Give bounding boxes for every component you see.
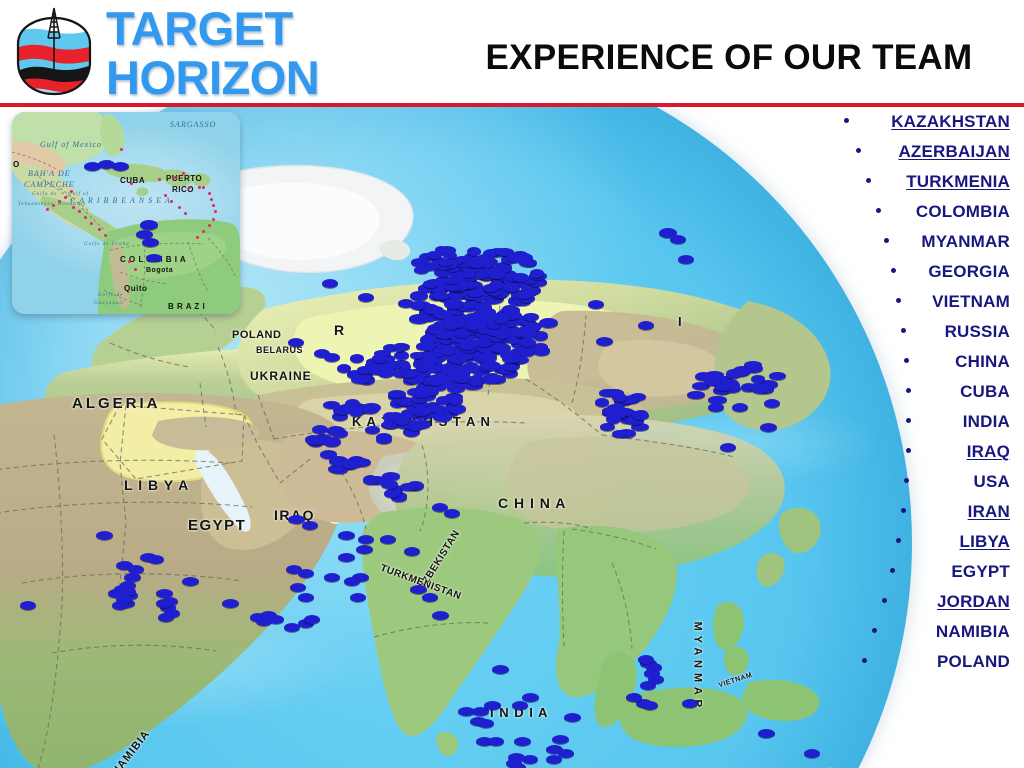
list-bullet-icon (906, 388, 911, 393)
well-location-marker-icon (539, 318, 558, 328)
well-location-marker-icon (410, 301, 426, 310)
well-location-marker-icon (447, 385, 465, 393)
well-location-marker-icon (510, 763, 526, 768)
inset-site-dot-icon (174, 176, 177, 179)
list-bullet-icon (876, 208, 881, 213)
list-bullet-icon (904, 358, 909, 363)
well-location-marker-icon (638, 655, 654, 664)
well-location-marker-icon (502, 355, 520, 363)
well-location-marker-icon (732, 403, 748, 412)
list-bullet-icon (884, 238, 889, 243)
inset-site-dot-icon (158, 178, 161, 181)
well-location-marker-icon (112, 162, 129, 171)
slide-header: TARGET HORIZON EXPERIENCE OF OUR TEAM (0, 0, 1024, 103)
well-location-marker-icon (495, 330, 510, 339)
list-bullet-icon (862, 658, 867, 663)
country-list-item[interactable]: VIETNAM (834, 287, 1024, 317)
country-list-item[interactable]: KAZAKHSTAN (834, 107, 1024, 137)
inset-site-dot-icon (84, 216, 87, 219)
well-location-marker-icon (96, 531, 113, 540)
inset-site-dot-icon (202, 186, 205, 189)
well-location-marker-icon (378, 369, 394, 378)
well-location-marker-icon (332, 429, 348, 438)
well-location-marker-icon (522, 693, 539, 702)
caribbean-inset-map: SARGASSOGulf of MexicoBAH'A DECAMPECHEGo… (12, 112, 240, 314)
inset-site-dot-icon (202, 230, 205, 233)
slide-root: TARGET HORIZON EXPERIENCE OF OUR TEAM (0, 0, 1024, 768)
country-name-label[interactable]: COLOMBIA (916, 197, 1010, 227)
well-location-marker-icon (182, 577, 199, 586)
well-location-marker-icon (670, 235, 686, 244)
inset-site-dot-icon (52, 204, 55, 207)
inset-site-dot-icon (98, 228, 101, 231)
country-name-label[interactable]: NAMIBIA (936, 617, 1010, 647)
country-list-item[interactable]: LIBYA (834, 527, 1024, 557)
well-location-marker-icon (322, 279, 338, 288)
well-location-marker-icon (493, 314, 509, 323)
well-location-marker-icon (112, 601, 128, 610)
country-list-item[interactable]: MYANMAR (834, 227, 1024, 257)
list-bullet-icon (901, 508, 906, 513)
country-name-label[interactable]: EGYPT (951, 557, 1010, 587)
well-location-marker-icon (522, 755, 538, 764)
well-location-marker-icon (298, 569, 314, 578)
well-location-marker-icon (432, 611, 449, 620)
well-location-marker-icon (140, 220, 158, 230)
country-name-label[interactable]: CUBA (960, 377, 1010, 407)
well-location-marker-icon (408, 422, 424, 431)
country-list-item[interactable]: TURKMENIA (834, 167, 1024, 197)
well-location-marker-icon (552, 735, 569, 744)
list-bullet-icon (856, 148, 861, 153)
country-experience-list: KAZAKHSTANAZERBAIJANTURKMENIACOLOMBIAMYA… (834, 107, 1024, 727)
well-location-marker-icon (478, 719, 494, 728)
country-list-item[interactable]: AZERBAIJAN (834, 137, 1024, 167)
country-name-label[interactable]: CHINA (955, 347, 1010, 377)
well-location-marker-icon (416, 342, 435, 350)
country-list-item[interactable]: POLAND (834, 647, 1024, 677)
well-location-marker-icon (596, 337, 613, 346)
well-location-marker-icon (365, 426, 380, 434)
country-name-label[interactable]: GEORGIA (928, 257, 1010, 287)
country-name-label[interactable]: LIBYA (960, 527, 1010, 557)
list-bullet-icon (896, 298, 901, 303)
country-name-label[interactable]: MYANMAR (921, 227, 1010, 257)
well-location-marker-icon (380, 535, 396, 544)
well-location-marker-icon (284, 623, 300, 632)
well-location-marker-icon (708, 403, 724, 412)
country-list-item[interactable]: GEORGIA (834, 257, 1024, 287)
inset-site-dot-icon (58, 200, 61, 203)
inset-site-dot-icon (104, 234, 107, 237)
list-bullet-icon (904, 478, 909, 483)
well-location-marker-icon (533, 346, 550, 355)
country-list-item[interactable]: RUSSIA (834, 317, 1024, 347)
list-bullet-icon (866, 178, 871, 183)
country-name-label[interactable]: INDIA (963, 407, 1010, 437)
well-location-marker-icon (222, 599, 239, 608)
well-location-marker-icon (678, 255, 694, 264)
well-location-marker-icon (626, 693, 642, 702)
inset-site-dot-icon (178, 206, 181, 209)
well-location-marker-icon (720, 443, 736, 452)
well-location-marker-icon (404, 547, 420, 556)
well-location-marker-icon (344, 577, 360, 586)
inset-site-dot-icon (90, 222, 93, 225)
well-location-marker-icon (519, 259, 537, 267)
well-location-marker-icon (381, 480, 398, 489)
well-location-marker-icon (588, 300, 604, 309)
well-location-marker-icon (428, 376, 443, 386)
country-list-item[interactable]: IRAQ (834, 437, 1024, 467)
well-location-marker-icon (600, 423, 615, 431)
well-location-marker-icon (288, 338, 304, 347)
well-location-marker-icon (409, 314, 429, 324)
inset-site-dot-icon (196, 236, 199, 239)
well-location-marker-icon (488, 737, 504, 746)
well-location-marker-icon (358, 293, 374, 302)
country-list-item[interactable]: CHINA (834, 347, 1024, 377)
inset-site-dot-icon (130, 182, 133, 185)
list-bullet-icon (891, 268, 896, 273)
well-location-marker-icon (351, 375, 369, 383)
well-location-marker-icon (595, 398, 609, 406)
well-location-marker-icon (350, 593, 366, 602)
well-location-marker-icon (760, 423, 777, 432)
anticline-derrick-logo-icon (6, 6, 102, 98)
well-location-marker-icon (412, 407, 431, 416)
well-location-marker-icon (146, 254, 162, 262)
well-location-marker-icon (514, 737, 531, 746)
well-location-marker-icon (376, 436, 392, 444)
country-name-label[interactable]: IRAQ (967, 437, 1010, 467)
well-location-marker-icon (158, 613, 174, 622)
country-list-item[interactable]: COLOMBIA (834, 197, 1024, 227)
inset-site-dot-icon (198, 186, 201, 189)
well-location-marker-icon (312, 425, 328, 434)
list-bullet-icon (844, 118, 849, 123)
inset-site-dot-icon (170, 200, 173, 203)
well-location-marker-icon (564, 713, 581, 722)
well-location-marker-icon (302, 521, 318, 530)
inset-site-dot-icon (64, 196, 67, 199)
well-location-marker-icon (433, 412, 452, 421)
well-location-marker-icon (638, 321, 654, 330)
well-location-marker-icon (519, 338, 536, 347)
list-bullet-icon (906, 448, 911, 453)
list-bullet-icon (896, 538, 901, 543)
well-location-marker-icon (304, 615, 320, 624)
well-location-marker-icon (350, 354, 364, 363)
country-list-item[interactable]: EGYPT (834, 557, 1024, 587)
page-title: EXPERIENCE OF OUR TEAM (440, 38, 1018, 78)
country-name-label[interactable]: VIETNAM (932, 287, 1010, 317)
well-location-marker-icon (804, 749, 820, 758)
well-location-marker-icon (502, 283, 520, 292)
well-location-marker-icon (323, 437, 342, 447)
well-location-marker-icon (393, 415, 410, 425)
list-bullet-icon (882, 598, 887, 603)
inset-site-dot-icon (212, 218, 215, 221)
well-location-marker-icon (444, 509, 460, 518)
well-location-marker-icon (142, 238, 159, 247)
country-list-item[interactable]: CUBA (834, 377, 1024, 407)
inset-site-dot-icon (128, 260, 131, 263)
well-location-marker-icon (642, 701, 658, 710)
well-location-marker-icon (384, 489, 400, 498)
country-name-label[interactable]: IRAN (968, 497, 1010, 527)
well-location-marker-icon (324, 573, 340, 582)
inset-site-dot-icon (212, 204, 215, 207)
country-list-item[interactable]: IRAN (834, 497, 1024, 527)
well-location-marker-icon (481, 375, 499, 384)
header-divider-rule (0, 103, 1024, 107)
well-location-marker-icon (393, 343, 406, 352)
well-location-marker-icon (423, 280, 438, 288)
well-location-marker-icon (640, 681, 656, 690)
country-list-item[interactable]: INDIA (834, 407, 1024, 437)
country-name-label[interactable]: TURKMENIA (906, 167, 1010, 197)
well-location-marker-icon (682, 699, 698, 708)
well-location-marker-icon (429, 405, 447, 413)
well-location-marker-icon (156, 599, 172, 608)
well-location-marker-icon (338, 531, 355, 540)
country-name-label[interactable]: AZERBAIJAN (898, 137, 1010, 167)
inset-site-dot-icon (134, 268, 137, 271)
country-name-label[interactable]: POLAND (937, 647, 1010, 677)
well-location-marker-icon (401, 370, 417, 378)
country-list-item[interactable]: USA (834, 467, 1024, 497)
well-location-marker-icon (443, 252, 457, 259)
country-name-label[interactable]: KAZAKHSTAN (891, 107, 1010, 137)
well-location-marker-icon (20, 601, 36, 610)
well-location-marker-icon (422, 593, 438, 602)
well-location-marker-icon (356, 545, 373, 554)
inset-site-dot-icon (120, 148, 123, 151)
well-location-marker-icon (256, 617, 272, 626)
inset-site-dot-icon (208, 192, 211, 195)
inset-site-dot-icon (70, 190, 73, 193)
inset-site-dot-icon (210, 198, 213, 201)
well-location-marker-icon (492, 665, 509, 674)
well-location-marker-icon (416, 363, 429, 372)
well-location-marker-icon (530, 269, 544, 278)
inset-site-dot-icon (184, 212, 187, 215)
well-location-marker-icon (512, 701, 528, 710)
well-location-marker-icon (298, 593, 314, 602)
inset-site-dot-icon (182, 172, 185, 175)
well-location-marker-icon (484, 701, 501, 710)
country-list-item[interactable]: JORDAN (834, 587, 1024, 617)
country-name-label[interactable]: RUSSIA (945, 317, 1010, 347)
inset-site-dot-icon (72, 206, 75, 209)
well-location-marker-icon (414, 390, 429, 398)
well-location-marker-icon (758, 729, 775, 738)
well-location-marker-icon (448, 354, 468, 364)
well-location-marker-icon (410, 585, 427, 594)
well-location-marker-icon (324, 353, 340, 362)
well-location-marker-icon (358, 535, 374, 544)
list-bullet-icon (872, 628, 877, 633)
well-location-marker-icon (148, 555, 164, 564)
list-bullet-icon (901, 328, 906, 333)
well-location-marker-icon (632, 411, 648, 421)
well-location-marker-icon (454, 373, 471, 383)
well-location-marker-icon (459, 339, 476, 349)
well-location-marker-icon (288, 515, 305, 524)
inset-site-dot-icon (78, 210, 81, 213)
country-name-label[interactable]: USA (974, 467, 1011, 497)
well-location-marker-icon (342, 460, 360, 468)
country-list-item[interactable]: NAMIBIA (834, 617, 1024, 647)
inset-landmass (12, 112, 240, 314)
country-name-label[interactable]: JORDAN (937, 587, 1010, 617)
inset-site-dot-icon (164, 194, 167, 197)
list-bullet-icon (906, 418, 911, 423)
brand-line-horizon: HORIZON (106, 52, 436, 101)
list-bullet-icon (890, 568, 895, 573)
inset-site-dot-icon (208, 224, 211, 227)
well-location-marker-icon (612, 430, 628, 438)
brand-wordmark: TARGET HORIZON (106, 2, 436, 102)
inset-site-dot-icon (188, 186, 191, 189)
well-location-marker-icon (488, 271, 505, 279)
well-location-marker-icon (410, 291, 428, 301)
well-location-marker-icon (546, 755, 562, 764)
well-location-marker-icon (764, 399, 780, 408)
inset-site-dot-icon (46, 208, 49, 211)
brand-line-target: TARGET (106, 2, 436, 52)
well-location-marker-icon (290, 583, 306, 592)
well-location-marker-icon (338, 553, 355, 562)
well-location-marker-icon (394, 351, 409, 360)
inset-site-dot-icon (214, 210, 217, 213)
